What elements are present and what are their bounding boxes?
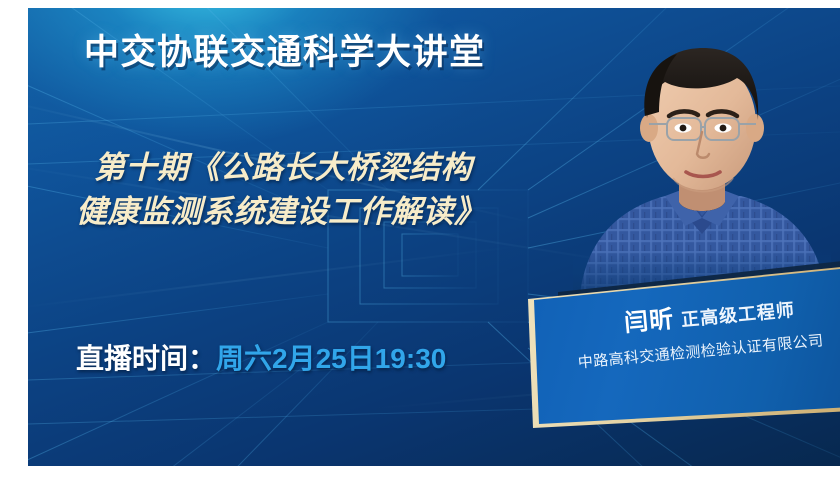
panel-text-group: 闫昕 正高级工程师 中路高科交通检测检验认证有限公司 (490, 240, 840, 466)
live-time-label: 直播时间： (76, 343, 216, 374)
speaker-info-panel: 闫昕 正高级工程师 中路高科交通检测检验认证有限公司 (498, 256, 840, 456)
live-time-row: 直播时间：周六2月25日19:30 (76, 337, 446, 377)
poster-background: 中交协联交通科学大讲堂 第十期《公路长大桥梁结构 健康监测系统建设工作解读》 直… (28, 8, 840, 466)
light-streak (28, 245, 524, 310)
live-time-value: 周六2月25日19:30 (216, 343, 446, 374)
poster-subtitle: 第十期《公路长大桥梁结构 健康监测系统建设工作解读》 (72, 146, 612, 234)
subtitle-line-1: 第十期《公路长大桥梁结构 (72, 146, 612, 190)
speaker-name: 闫昕 (622, 299, 675, 338)
subtitle-line-2: 健康监测系统建设工作解读》 (72, 190, 612, 234)
promo-poster: 中交协联交通科学大讲堂 第十期《公路长大桥梁结构 健康监测系统建设工作解读》 直… (0, 0, 840, 480)
speaker-role: 正高级工程师 (680, 296, 796, 332)
poster-main-title: 中交协联交通科学大讲堂 (84, 34, 486, 73)
